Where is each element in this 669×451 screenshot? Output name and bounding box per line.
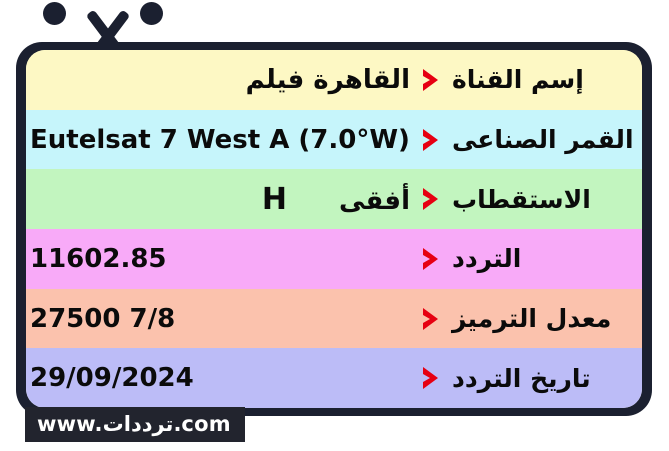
chevron-right-icon [414, 127, 448, 153]
row-value-symbol-rate: 27500 7/8 [26, 304, 414, 334]
screenshot-canvas: www.ترددات.com إسم القناة القاه [0, 0, 669, 451]
site-logo-text: www.ترددات.com [37, 412, 231, 436]
row-label-frequency: التردد [448, 244, 642, 273]
row-label-channel-name: إسم القناة [448, 65, 642, 94]
polarization-arabic: أفقى [339, 186, 410, 216]
row-label-symbol-rate: معدل الترميز [448, 304, 642, 333]
polarization-letter: H [262, 182, 287, 217]
chevron-right-icon [414, 306, 448, 332]
row-value-frequency: 11602.85 [26, 244, 414, 274]
row-value-satellite: Eutelsat 7 West A (7.0°W) [26, 125, 414, 155]
antenna-knob-left [43, 2, 66, 25]
tv-frame: www.ترددات.com إسم القناة القاه [16, 42, 652, 416]
chevron-right-icon [414, 246, 448, 272]
row-value-frequency-date: 29/09/2024 [26, 363, 414, 393]
table-row-frequency-date: تاريخ التردد 29/09/2024 [26, 348, 642, 408]
antenna-knob-right [140, 2, 163, 25]
table-row-polarization: الاستقطاب أفقىH [26, 169, 642, 229]
chevron-right-icon [414, 186, 448, 212]
row-value-channel-name: القاهرة فيلم [26, 65, 414, 95]
row-label-polarization: الاستقطاب [448, 185, 642, 214]
row-label-frequency-date: تاريخ التردد [448, 364, 642, 393]
chevron-right-icon [414, 67, 448, 93]
table-row-channel-name: إسم القناة القاهرة فيلم [26, 50, 642, 110]
site-logo: www.ترددات.com [25, 407, 245, 442]
table-row-frequency: التردد 11602.85 [26, 229, 642, 289]
row-label-satellite: القمر الصناعى [448, 125, 642, 154]
table-row-symbol-rate: معدل الترميز 27500 7/8 [26, 289, 642, 349]
row-value-polarization: أفقىH [26, 182, 414, 217]
table-row-satellite: القمر الصناعى Eutelsat 7 West A (7.0°W) [26, 110, 642, 170]
spec-table: إسم القناة القاهرة فيلم القمر الصناعى Eu… [26, 50, 642, 408]
chevron-right-icon [414, 365, 448, 391]
tv-screen: www.ترددات.com إسم القناة القاه [26, 50, 642, 408]
